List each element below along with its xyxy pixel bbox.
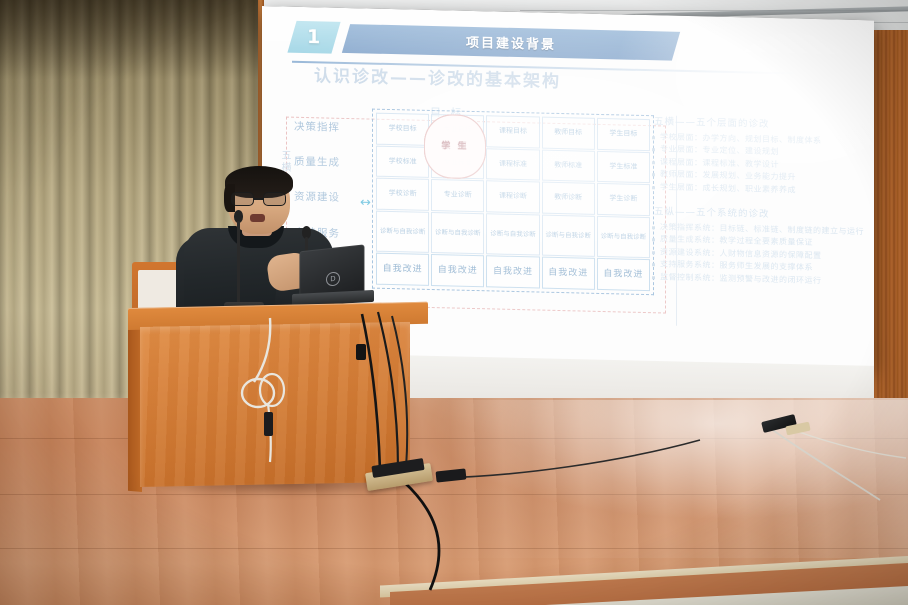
mic-gooseneck	[237, 221, 240, 303]
matrix-cell: 诊断与自我诊断	[376, 210, 429, 253]
left-arrow-icon: ↔	[360, 196, 371, 209]
matrix-cell: 教师目标	[542, 117, 595, 150]
slide-number-badge: 1	[287, 21, 340, 54]
matrix-cell: 学校目标	[376, 113, 429, 146]
slide-number-text: 1	[307, 26, 320, 48]
matrix-cell: 课程目标	[486, 115, 539, 148]
column-header: 学 生	[424, 114, 486, 179]
podium-front-panel	[140, 322, 410, 487]
lecture-hall-scene: 1 项目建设背景 认识诊改——诊改的基本架构 目 标 五横 决策指挥 质量生成	[0, 0, 908, 605]
slide-header: 1 项目建设背景	[292, 21, 792, 67]
matrix-column: 课 程 课程目标 课程标准 课程诊断 诊断与自我诊断 自我改进	[486, 115, 539, 288]
matrix-cell: 教师标准	[542, 149, 595, 182]
matrix-cell: 诊断与自我诊断	[431, 212, 484, 255]
floor-seam	[0, 548, 908, 549]
slide-subtitle: 认识诊改——诊改的基本架构	[314, 61, 754, 96]
matrix-cell: 课程标准	[486, 148, 539, 181]
matrix-cell: 自我改进	[376, 253, 429, 286]
matrix-cell: 学校标准	[376, 145, 429, 178]
glasses-bridge	[254, 198, 264, 200]
microphone-left	[226, 210, 266, 320]
matrix-cell: 课程诊断	[486, 180, 539, 213]
row-label: 决策指挥	[294, 109, 366, 146]
matrix-grid: 学 校 学校目标 学校标准 学校诊断 诊断与自我诊断 自我改进 专 业 专业目标	[376, 113, 650, 291]
laptop[interactable]: D	[292, 248, 372, 310]
wood-panel-wall	[874, 30, 908, 460]
matrix-column: 教 师 教师目标 教师标准 教师诊断 诊断与自我诊断 自我改进	[542, 117, 595, 290]
matrix-cell: 教师诊断	[542, 182, 595, 215]
matrix-cell: 诊断与自我诊断	[486, 213, 539, 256]
curtain-shadow-top	[0, 0, 258, 80]
bullet-section-title: 五横——五个层面的诊改	[654, 113, 864, 132]
eyeglasses-icon	[230, 192, 288, 206]
matrix-cell: 诊断与自我诊断	[542, 214, 595, 257]
lens-left	[231, 192, 254, 206]
slide-title-text: 项目建设背景	[466, 32, 556, 53]
slide-bullet-panel: 五横——五个层面的诊改 学校层面：办学方向、规划目标、制度体系 专业层面：专业定…	[638, 111, 864, 360]
matrix-column: 学 校 学校目标 学校标准 学校诊断 诊断与自我诊断 自我改进	[376, 113, 429, 286]
bullet-section-title: 五纵——五个系统的诊改	[654, 203, 864, 222]
matrix-cell: 自我改进	[542, 257, 595, 290]
bullet-list-one: 学校层面：办学方向、规划目标、制度体系 专业层面：专业定位、建设规划 课程层面：…	[650, 131, 864, 198]
matrix-grid-border: 学 校 学校目标 学校标准 学校诊断 诊断与自我诊断 自我改进 专 业 专业目标	[372, 109, 654, 296]
matrix-cell: 学校诊断	[376, 178, 429, 211]
matrix-cell: 自我改进	[486, 256, 539, 289]
matrix-cell: 专业诊断	[431, 179, 484, 212]
bullet-list-two: 决策指挥系统：目标链、标准链、制度链的建立与运行 质量生成系统：教学过程全要素质…	[650, 221, 864, 288]
slide-title-bar: 项目建设背景	[342, 24, 680, 61]
matrix-cell: 自我改进	[431, 254, 484, 287]
lens-right	[263, 192, 286, 206]
